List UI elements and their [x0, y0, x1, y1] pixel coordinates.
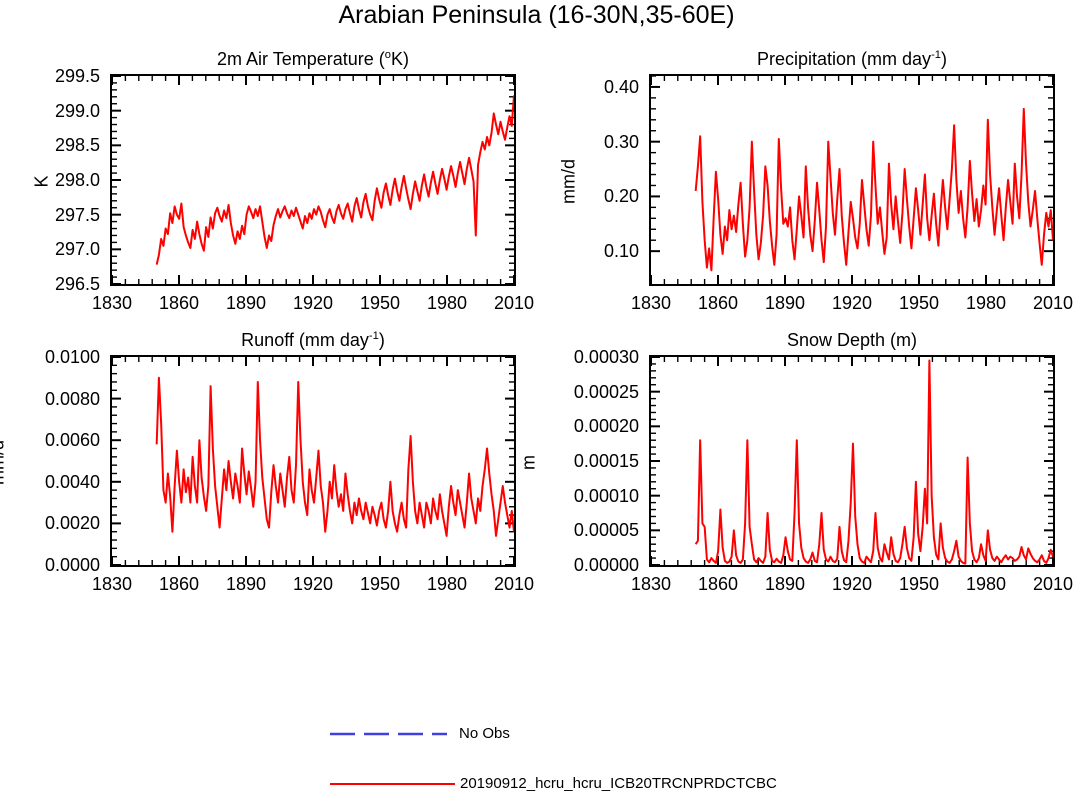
ytick-label-temperature: 296.5	[0, 275, 100, 293]
xtick-label-snow: 1920	[832, 575, 872, 593]
ytick-label-snow: 0.00025	[519, 383, 639, 401]
panel-precipitation-title-sup: -1	[931, 49, 941, 61]
ytick-label-precipitation: 0.40	[519, 78, 639, 96]
data-series-runoff	[157, 378, 514, 536]
legend-label-model: 20190912_hcru_hcru_ICB20TRCNPRDCTCBC	[460, 775, 777, 793]
data-series-temperature	[157, 95, 514, 264]
ytick-label-runoff: 0.0060	[0, 431, 100, 449]
panel-runoff: Runoff (mm day-1) 0.00000.00200.00400.00…	[110, 355, 516, 567]
chart-svg-runoff	[112, 357, 514, 565]
chart-svg-precipitation	[651, 76, 1053, 284]
ytick-label-temperature: 299.0	[0, 102, 100, 120]
xtick-label-snow: 1830	[631, 575, 671, 593]
xtick-label-runoff: 1890	[226, 575, 266, 593]
ytick-label-snow: 0.00005	[519, 521, 639, 539]
xtick-label-snow: 2010	[1033, 575, 1073, 593]
panel-temperature-title-main: 2m Air Temperature (	[217, 49, 385, 69]
xtick-label-runoff: 1980	[427, 575, 467, 593]
xtick-label-temperature: 1860	[159, 294, 199, 312]
xtick-label-runoff: 1860	[159, 575, 199, 593]
xtick-label-temperature: 1950	[360, 294, 400, 312]
plot-area-snow	[649, 355, 1055, 567]
panel-runoff-title: Runoff (mm day-1)	[110, 329, 516, 351]
panel-runoff-title-main: Runoff (mm day	[241, 330, 369, 350]
panel-temperature: 2m Air Temperature (oK) 296.5297.0297.52…	[110, 74, 516, 286]
panel-snow-title: Snow Depth (m)	[649, 329, 1055, 351]
figure-root: Arabian Peninsula (16-30N,35-60E) 2m Air…	[0, 0, 1073, 791]
xtick-label-temperature: 1980	[427, 294, 467, 312]
plot-area-temperature	[110, 74, 516, 286]
ytick-label-temperature: 297.0	[0, 240, 100, 258]
xtick-label-precipitation: 2010	[1033, 294, 1073, 312]
panel-precipitation: Precipitation (mm day-1) 0.100.200.300.4…	[649, 74, 1055, 286]
xtick-label-precipitation: 1950	[899, 294, 939, 312]
xtick-label-temperature: 2010	[494, 294, 534, 312]
panel-precipitation-title-main: Precipitation (mm day	[757, 49, 931, 69]
xtick-label-runoff: 1830	[92, 575, 132, 593]
ytick-label-runoff: 0.0020	[0, 514, 100, 532]
panel-precipitation-title-tail: )	[941, 49, 947, 69]
xtick-label-precipitation: 1980	[966, 294, 1006, 312]
xtick-label-snow: 1890	[765, 575, 805, 593]
ytick-label-runoff: 0.0040	[0, 473, 100, 491]
figure-title: Arabian Peninsula (16-30N,35-60E)	[0, 0, 1073, 30]
panel-runoff-title-tail: )	[379, 330, 385, 350]
data-series-precipitation	[696, 109, 1053, 270]
panel-temperature-title-tail: K)	[391, 49, 409, 69]
plot-area-precipitation	[649, 74, 1055, 286]
xtick-label-runoff: 1950	[360, 575, 400, 593]
ytick-label-runoff: 0.0100	[0, 348, 100, 366]
xtick-label-snow: 1980	[966, 575, 1006, 593]
xtick-label-precipitation: 1860	[698, 294, 738, 312]
panel-precipitation-title: Precipitation (mm day-1)	[649, 48, 1055, 70]
legend-label-no-obs: No Obs	[459, 725, 510, 743]
xtick-label-temperature: 1920	[293, 294, 333, 312]
xtick-label-snow: 1950	[899, 575, 939, 593]
ytick-label-precipitation: 0.10	[519, 242, 639, 260]
ytick-label-runoff: 0.0000	[0, 556, 100, 574]
xtick-label-temperature: 1890	[226, 294, 266, 312]
legend-entry-no-obs: No Obs	[0, 723, 1073, 745]
xtick-label-precipitation: 1830	[631, 294, 671, 312]
xtick-label-runoff: 2010	[494, 575, 534, 593]
panel-temperature-title: 2m Air Temperature (oK)	[110, 48, 516, 70]
legend-entry-model: 20190912_hcru_hcru_ICB20TRCNPRDCTCBC	[0, 773, 1073, 795]
ytick-label-snow: 0.00030	[519, 348, 639, 366]
ytick-label-snow: 0.00000	[519, 556, 639, 574]
xtick-label-precipitation: 1920	[832, 294, 872, 312]
chart-svg-temperature	[112, 76, 514, 284]
ytick-label-runoff: 0.0080	[0, 390, 100, 408]
xtick-label-runoff: 1920	[293, 575, 333, 593]
chart-svg-snow	[651, 357, 1053, 565]
ytick-label-temperature: 299.5	[0, 67, 100, 85]
panel-runoff-title-sup: -1	[369, 330, 379, 342]
xtick-label-precipitation: 1890	[765, 294, 805, 312]
xtick-label-snow: 1860	[698, 575, 738, 593]
xtick-label-temperature: 1830	[92, 294, 132, 312]
data-series-snow	[696, 360, 1053, 563]
panel-snow: Snow Depth (m) 0.000000.000050.000100.00…	[649, 355, 1055, 567]
panel-snow-title-main: Snow Depth (m)	[787, 330, 917, 350]
plot-area-runoff	[110, 355, 516, 567]
